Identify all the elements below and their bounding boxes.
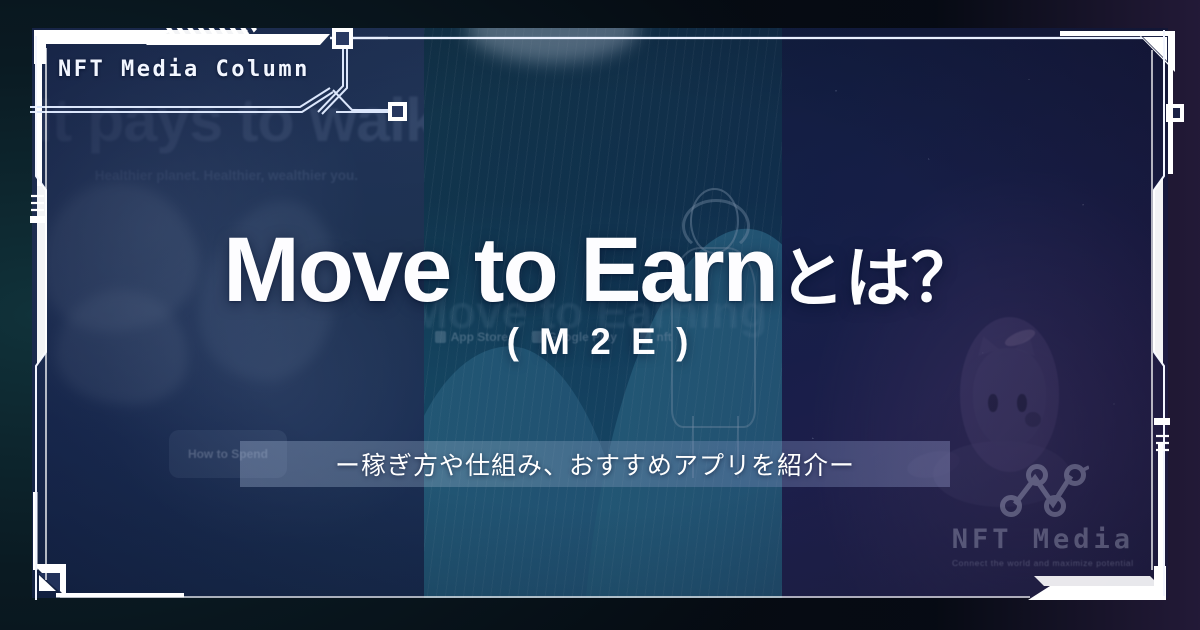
page-title-abbreviation: ( M 2 E ) [0,321,1200,363]
page-title-jp: とは？ [779,241,977,315]
subtitle-text: ー稼ぎ方や仕組み、おすすめアプリを紹介ー [240,441,950,487]
page-title-en: Move to Earn [223,219,777,321]
watermark: NFT Media Connect the world and maximize… [952,462,1134,568]
column-label: NFT Media Column [58,57,310,82]
watermark-tagline: Connect the world and maximize potential [952,558,1134,568]
watermark-name: NFT Media [952,524,1134,555]
poster-canvas: It pays to walk. Healthier planet. Healt… [0,0,1200,630]
page-title: Move to Earnとは？ [0,225,1200,315]
hero-title-block: Move to Earnとは？ ( M 2 E ) [0,225,1200,363]
node-network-icon [997,462,1089,518]
